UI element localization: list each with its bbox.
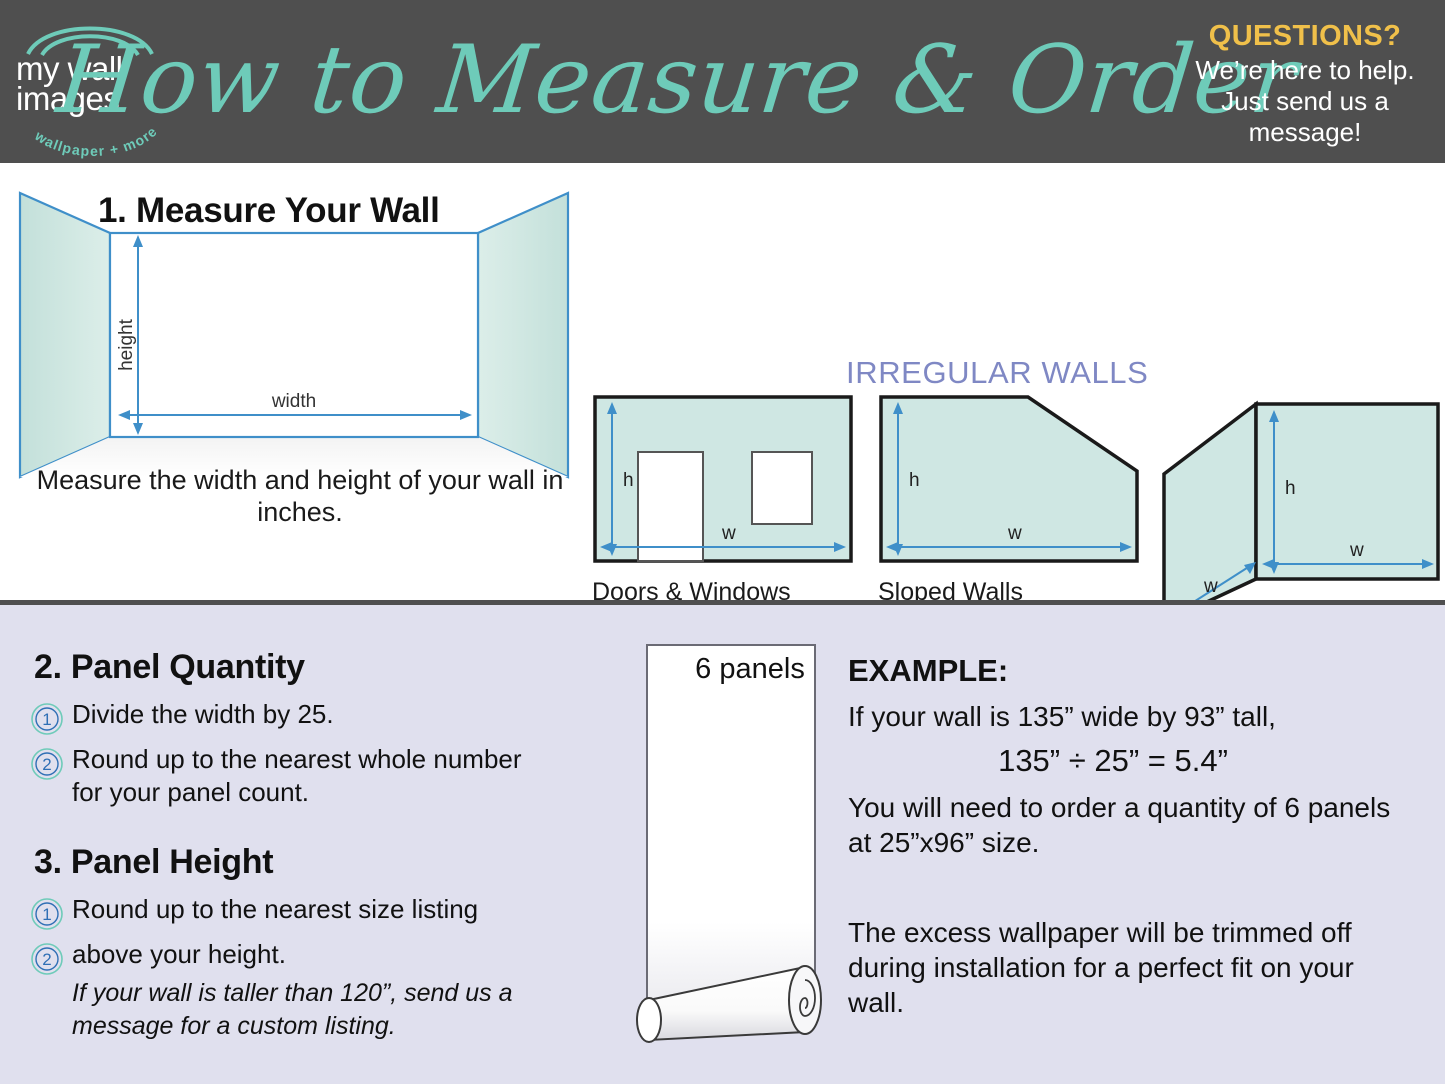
- step2-title: 2. Panel Quantity: [34, 648, 305, 687]
- w2-label: w: [1203, 576, 1218, 597]
- step3-title: 3. Panel Height: [34, 843, 273, 882]
- step2-bullet-1: 1 Divide the width by 25.: [28, 698, 548, 738]
- step3-note: If your wall is taller than 120”, send u…: [72, 977, 572, 1042]
- width-label: width: [271, 391, 316, 412]
- page-header: my wall images wallpaper + more How to M…: [0, 0, 1445, 163]
- numbered-bullet-icon: 1: [28, 895, 66, 933]
- step3-bullet-1-text: Round up to the nearest size listing: [72, 893, 478, 926]
- svg-text:1: 1: [42, 905, 51, 924]
- left-side-wall: [20, 193, 110, 477]
- door-shape: [638, 452, 703, 561]
- numbered-bullet-icon: 1: [28, 700, 66, 738]
- step3-bullet-2: 2 above your height.: [28, 938, 558, 978]
- h-label: h: [623, 470, 634, 491]
- example-math: 135” ÷ 25” = 5.4”: [848, 743, 1378, 779]
- step2-bullet-2-text: Round up to the nearest whole number for…: [72, 743, 548, 810]
- step2-bullet-1-text: Divide the width by 25.: [72, 698, 334, 731]
- doors-windows-diagram: h w: [592, 394, 854, 564]
- example-title: EXAMPLE:: [848, 653, 1008, 689]
- h-label: h: [1285, 478, 1296, 499]
- example-line-1: If your wall is 135” wide by 93” tall,: [848, 700, 1408, 734]
- right-side-wall: [478, 193, 568, 477]
- questions-heading: QUESTIONS?: [1179, 20, 1431, 53]
- questions-block: QUESTIONS? We’re here to help. Just send…: [1179, 20, 1431, 147]
- step3-bullet-1: 1 Round up to the nearest size listing: [28, 893, 558, 933]
- step1-title: 1. Measure Your Wall: [98, 191, 440, 231]
- example-line-3: The excess wallpaper will be trimmed off…: [848, 915, 1408, 1020]
- questions-body: We’re here to help. Just send us a messa…: [1179, 55, 1431, 147]
- example-line-2: You will need to order a quantity of 6 p…: [848, 790, 1408, 860]
- w-label: w: [1349, 540, 1364, 561]
- measure-section: height width 1. Measure Your Wall Measur…: [0, 163, 1445, 604]
- wallpaper-roll-illustration: [633, 640, 848, 1060]
- window-shape: [752, 452, 812, 524]
- page-title: How to Measure & Order: [177, 8, 1177, 153]
- step1-caption: Measure the width and height of your wal…: [20, 465, 580, 529]
- roll-label: 6 panels: [660, 653, 840, 686]
- w-label: w: [721, 523, 736, 544]
- irregular-walls-heading: IRREGULAR WALLS: [846, 355, 1148, 391]
- numbered-bullet-icon: 2: [28, 745, 66, 783]
- svg-text:2: 2: [42, 755, 51, 774]
- roll-end: [789, 966, 821, 1034]
- svg-text:2: 2: [42, 950, 51, 969]
- ordering-section: 2. Panel Quantity 1 Divide the width by …: [0, 605, 1445, 1084]
- height-label: height: [116, 318, 137, 370]
- step2-bullet-2: 2 Round up to the nearest whole number f…: [28, 743, 548, 810]
- front-wall-plane: [1256, 404, 1438, 579]
- panel-sheet: [647, 645, 815, 1015]
- multiple-walls-diagram: h w w: [1156, 394, 1442, 624]
- numbered-bullet-icon: 2: [28, 940, 66, 978]
- w-label: w: [1007, 523, 1022, 544]
- svg-text:1: 1: [42, 710, 51, 729]
- step3-bullet-2-text: above your height.: [72, 938, 286, 971]
- sloped-wall-diagram: h w: [878, 394, 1140, 564]
- h-label: h: [909, 470, 920, 491]
